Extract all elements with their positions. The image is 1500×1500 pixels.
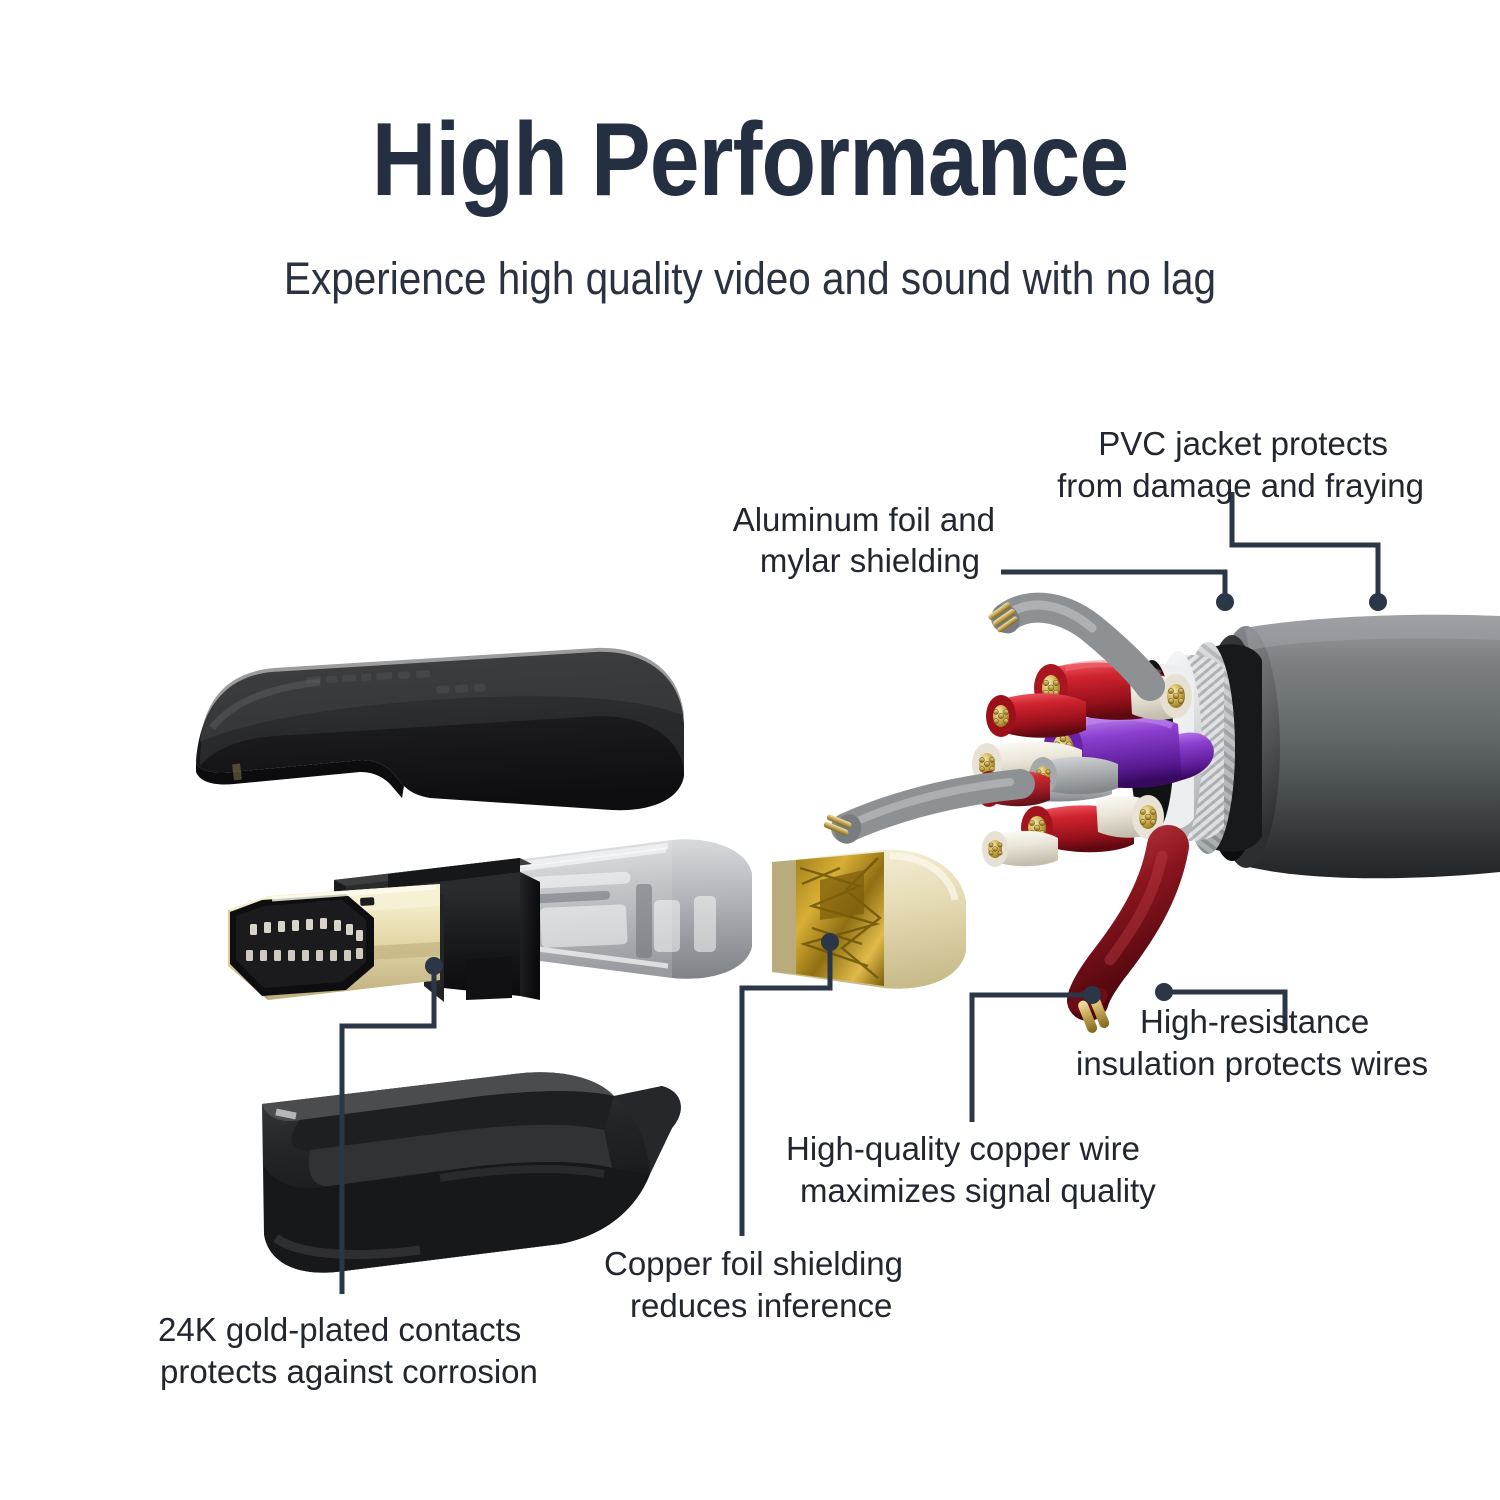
callout-high-resistance-line2: insulation protects wires	[1076, 1045, 1428, 1082]
callout-copper-wire-line1: High-quality copper wire	[786, 1130, 1140, 1167]
product-infographic: High Performance Experience high quality…	[0, 0, 1500, 1500]
callout-aluminum-foil-line2: mylar shielding	[760, 542, 980, 579]
callout-gold-contacts-line2: protects against corrosion	[160, 1353, 538, 1390]
callout-aluminum-foil-line1: Aluminum foil and	[733, 501, 995, 538]
plug-pin-housing	[230, 894, 374, 996]
diagram-stage: PVC jacket protects from damage and fray…	[0, 0, 1500, 1500]
leader-dot-gold-contacts	[425, 957, 443, 975]
callout-high-resistance: High-resistance insulation protects wire…	[1076, 1003, 1428, 1082]
callout-pvc-jacket: PVC jacket protects from damage and fray…	[1057, 425, 1424, 504]
callout-gold-contacts: 24K gold-plated contacts protects agains…	[158, 1311, 538, 1390]
callout-aluminum-foil: Aluminum foil and mylar shielding	[733, 501, 995, 579]
callout-gold-contacts-line1: 24K gold-plated contacts	[158, 1311, 521, 1348]
callout-copper-foil: Copper foil shielding reduces inference	[604, 1245, 903, 1324]
leader-dot-aluminum	[1216, 593, 1234, 611]
callout-pvc-jacket-line2: from damage and fraying	[1057, 467, 1424, 504]
leader-dot-copper-foil	[821, 933, 839, 951]
callout-high-resistance-line1: High-resistance	[1140, 1003, 1369, 1040]
hdmi-plug-part	[228, 858, 540, 1002]
connector-hood-top-part	[196, 648, 684, 810]
callout-pvc-jacket-line1: PVC jacket protects	[1098, 425, 1388, 462]
connector-hood-bottom-part	[262, 1072, 681, 1272]
leader-dot-insulation	[1155, 983, 1173, 1001]
callout-copper-wire: High-quality copper wire maximizes signa…	[786, 1130, 1156, 1209]
white-wire-bottom-left	[982, 831, 1058, 867]
copper-foil-shield-part	[772, 850, 966, 989]
callout-copper-foil-line1: Copper foil shielding	[604, 1245, 903, 1282]
callout-copper-wire-line2: maximizes signal quality	[800, 1172, 1156, 1209]
leader-dot-copper-wire	[1083, 986, 1101, 1004]
red-wire-upper-2	[986, 693, 1086, 737]
callout-copper-foil-line2: reduces inference	[630, 1287, 892, 1324]
leader-dot-pvc	[1369, 593, 1387, 611]
